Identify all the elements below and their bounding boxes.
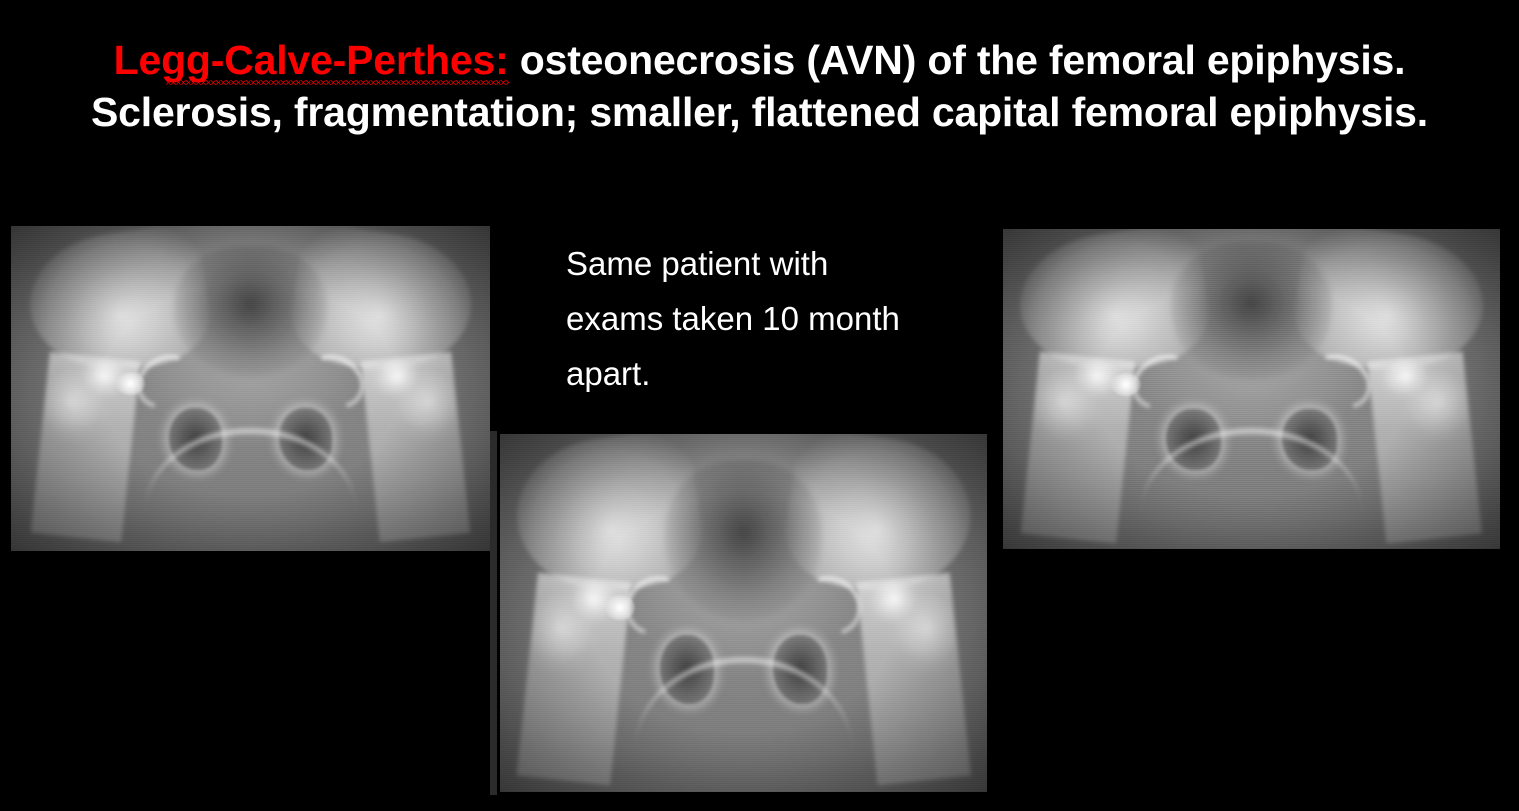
film-border [1000, 226, 1503, 552]
xray-film-right [1000, 226, 1503, 552]
spellcheck-underline-icon [166, 80, 509, 85]
title-line-2: Sclerosis, fragmentation; smaller, flatt… [0, 86, 1519, 138]
xray-film-center [497, 431, 990, 795]
film-vignette [11, 226, 490, 551]
xray-film-left [11, 226, 490, 551]
film-border [497, 431, 990, 795]
slide-title: Legg-Calve-Perthes: osteonecrosis (AVN) … [0, 34, 1519, 138]
title-term-diagnosis: Legg-Calve-Perthes: [114, 34, 509, 86]
title-line-1-rest: osteonecrosis (AVN) of the femoral epiph… [509, 37, 1406, 83]
slide-canvas: Legg-Calve-Perthes: osteonecrosis (AVN) … [0, 0, 1519, 811]
title-term-text: Legg-Calve-Perthes: [114, 37, 509, 83]
caption-text: Same patient with exams taken 10 month a… [566, 236, 926, 401]
xray-image-left[interactable] [11, 226, 490, 551]
xray-image-center[interactable] [497, 431, 990, 795]
xray-image-right[interactable] [1000, 226, 1503, 552]
title-line-1: Legg-Calve-Perthes: osteonecrosis (AVN) … [0, 34, 1519, 86]
